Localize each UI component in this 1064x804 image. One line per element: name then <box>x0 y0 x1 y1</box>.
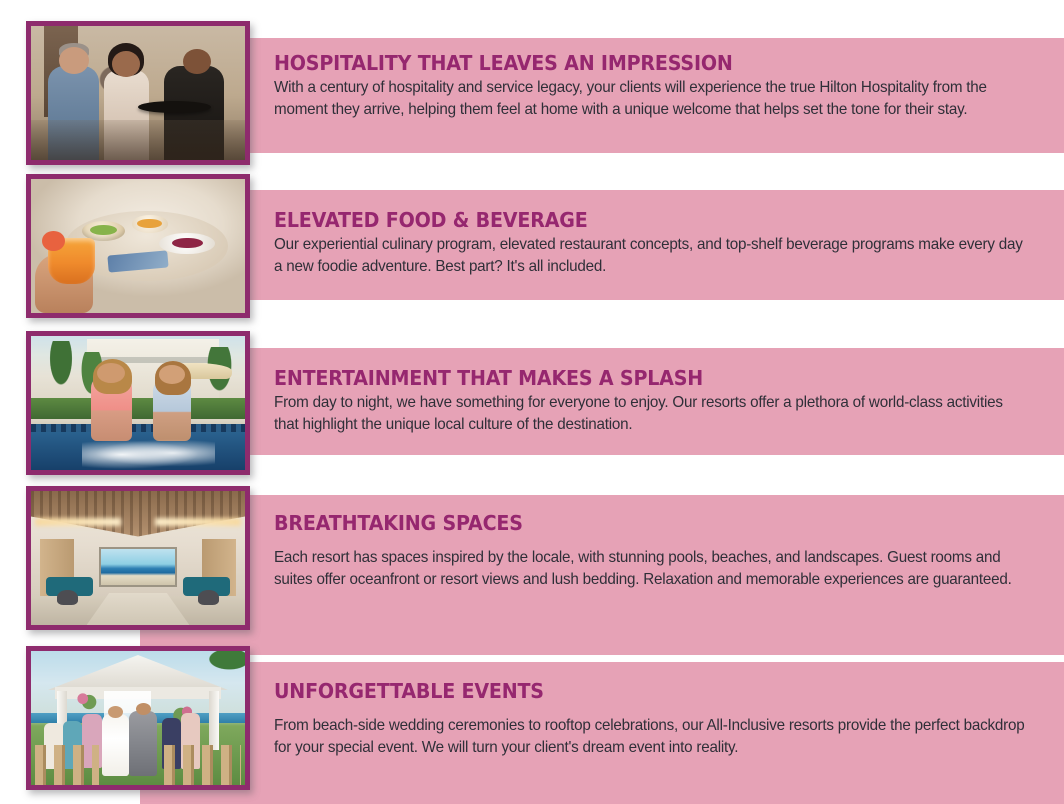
section-body-events: From beach-side wedding ceremonies to ro… <box>274 715 1027 757</box>
benefits-list-page: HOSPITALITY THAT LEAVES AN IMPRESSION Wi… <box>0 0 1064 804</box>
section-image-events <box>26 646 250 790</box>
section-text-hospitality: HOSPITALITY THAT LEAVES AN IMPRESSION Wi… <box>274 51 1046 120</box>
photo-pool-splash <box>31 336 245 470</box>
section-title-events: UNFORGETTABLE EVENTS <box>274 679 992 704</box>
section-body-hospitality: With a century of hospitality and servic… <box>274 77 1027 119</box>
section-text-events: UNFORGETTABLE EVENTS From beach-side wed… <box>274 679 1046 758</box>
section-band-spaces: BREATHTAKING SPACES Each resort has spac… <box>140 495 1064 655</box>
section-image-spaces <box>26 486 250 630</box>
section-image-hospitality <box>26 21 250 165</box>
photo-lobby-welcome <box>31 26 245 160</box>
photo-food-and-drink <box>31 179 245 313</box>
section-body-food-beverage: Our experiential culinary program, eleva… <box>274 234 1027 276</box>
section-text-entertainment: ENTERTAINMENT THAT MAKES A SPLASH From d… <box>274 366 1046 435</box>
section-band-food-beverage: ELEVATED FOOD & BEVERAGE Our experientia… <box>140 190 1064 300</box>
section-body-entertainment: From day to night, we have something for… <box>274 392 1027 434</box>
section-image-entertainment <box>26 331 250 475</box>
section-title-hospitality: HOSPITALITY THAT LEAVES AN IMPRESSION <box>274 51 992 76</box>
photo-lobby-corridor <box>31 491 245 625</box>
section-title-entertainment: ENTERTAINMENT THAT MAKES A SPLASH <box>274 366 992 391</box>
photo-beach-wedding <box>31 651 245 785</box>
section-band-hospitality: HOSPITALITY THAT LEAVES AN IMPRESSION Wi… <box>140 38 1064 153</box>
section-band-events: UNFORGETTABLE EVENTS From beach-side wed… <box>140 662 1064 804</box>
section-body-spaces: Each resort has spaces inspired by the l… <box>274 547 1027 589</box>
section-title-food-beverage: ELEVATED FOOD & BEVERAGE <box>274 208 992 233</box>
section-text-food-beverage: ELEVATED FOOD & BEVERAGE Our experientia… <box>274 208 1046 277</box>
section-text-spaces: BREATHTAKING SPACES Each resort has spac… <box>274 511 1046 590</box>
section-title-spaces: BREATHTAKING SPACES <box>274 511 992 536</box>
section-image-food-beverage <box>26 174 250 318</box>
section-band-entertainment: ENTERTAINMENT THAT MAKES A SPLASH From d… <box>140 348 1064 455</box>
